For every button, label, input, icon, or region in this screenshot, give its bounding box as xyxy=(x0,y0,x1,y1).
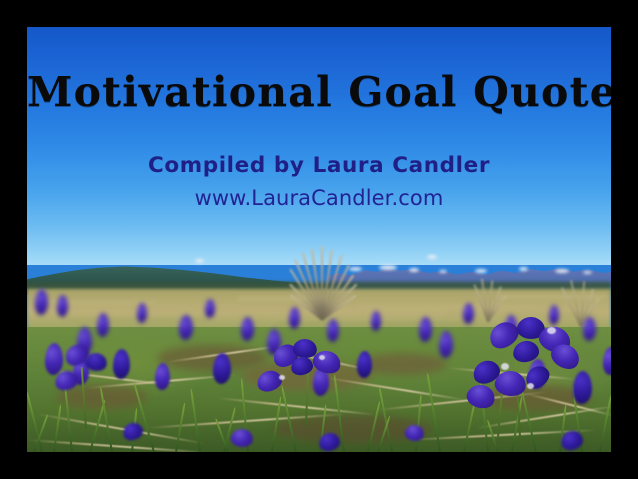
slide-canvas: Motivational Goal Quotes Compiled by Lau… xyxy=(0,0,638,479)
background-photo: Motivational Goal Quotes Compiled by Lau… xyxy=(27,27,611,452)
sky-region xyxy=(27,27,611,265)
